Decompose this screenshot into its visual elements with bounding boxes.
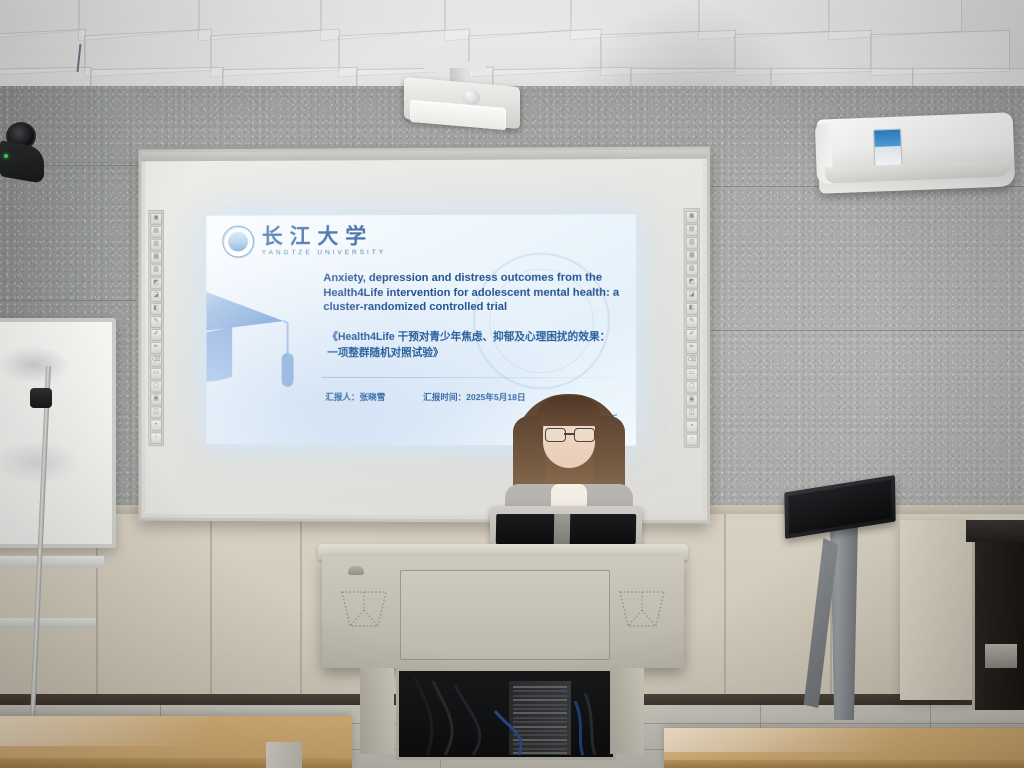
graduation-cap-graphic [206,261,319,391]
air-conditioner-icon [817,112,1016,193]
board-toolbar-left[interactable]: ▣▤▥▦▧◩◪◧✎✐✏⌫▭▢▣◫▪▫ [148,210,164,446]
board-toolbar-right[interactable]: ▣▤▥▦▧◩◪◧✎✐✏⌫▭▢▣◫▪▫ [684,208,700,448]
presenter-fringe [537,396,601,426]
whiteboard-tray [0,556,104,568]
board-tool-button[interactable]: ✐ [150,329,162,341]
presenter-glasses-icon [545,428,593,440]
board-tool-button[interactable]: ▪ [150,419,162,431]
board-tool-button[interactable]: ▧ [686,263,698,275]
slide-title-chinese: 《Health4Life 干预对青少年焦虑、抑郁及心理困扰的效果：一项整群随机对… [327,329,620,362]
speaker-grille-svg [338,584,390,630]
rack-top-device [966,520,1024,542]
university-emblem-icon [222,226,254,258]
university-name-cn: 长江大学 [262,226,386,247]
whiteboard-smudge [0,346,70,384]
board-tool-button[interactable]: ◧ [150,303,162,315]
stand-support-wing [786,538,838,708]
multimedia-lectern[interactable] [318,512,688,742]
board-tool-button[interactable]: ▣ [150,394,162,406]
board-tool-button[interactable]: ✐ [686,329,698,341]
board-tool-button[interactable]: ▢ [150,381,162,393]
lectern-equipment-cabinet[interactable] [396,668,616,760]
board-tool-button[interactable]: ✎ [150,316,162,328]
speaker-grille-svg [616,584,668,630]
board-tool-button[interactable]: ▫ [686,434,698,446]
board-tool-button[interactable]: ▥ [686,237,698,249]
glasses-bridge [564,433,574,435]
board-tool-button[interactable]: ▪ [686,421,698,433]
wall-seam [0,300,136,301]
lectern-latch[interactable] [348,566,364,575]
board-tool-button[interactable]: ◩ [150,277,162,289]
control-panel-stand[interactable] [778,478,896,728]
camera-status-led [4,154,8,158]
board-tool-button[interactable]: ▦ [150,252,162,264]
slide-divider [321,377,622,378]
board-tool-button[interactable]: ✏ [686,342,698,354]
wainscot-joint [724,514,726,694]
board-tool-button[interactable]: ▥ [150,239,162,251]
glasses-lens-right [574,428,595,442]
board-tool-button[interactable]: ▣ [686,394,698,406]
board-tool-button[interactable]: ◪ [686,290,698,302]
lectern-screen-divider [554,514,571,544]
board-tool-button[interactable]: ◫ [150,406,162,418]
cabinet-cables [399,671,613,757]
wainscot-joint [210,514,212,694]
glasses-lens-left [545,428,566,442]
whiteboard-lower-shelf [0,618,96,628]
slide-presenter: 汇报人：张晓雪 [325,391,385,403]
touch-panel-screen[interactable] [788,480,891,535]
control-touch-panel[interactable] [784,475,895,539]
rack-nameplate [985,644,1017,668]
desk-leg-left [266,742,302,768]
wall-seam [704,330,1024,331]
board-tool-button[interactable]: ▧ [150,265,162,277]
graduation-cap-icon [206,261,319,391]
whiteboard-pole-clamp [30,388,52,408]
board-tool-button[interactable]: ▦ [686,250,698,262]
slide-title-english: Anxiety, depression and distress outcome… [323,271,620,315]
lectern-front-panel [400,570,610,660]
slide-logo: 长江大学 YANGTZE UNIVERSITY [222,225,386,257]
ceiling-projector-icon [404,82,520,140]
board-tool-button[interactable]: ▣ [686,211,698,223]
board-tool-button[interactable]: ▤ [686,224,698,236]
board-tool-button[interactable]: ▢ [686,381,698,393]
emblem-inner [228,231,248,251]
university-name-en: YANGTZE UNIVERSITY [262,249,386,256]
lectern-leg-left [360,668,394,754]
board-tool-button[interactable]: ◩ [686,277,698,289]
lectern-front-body [322,556,684,668]
speaker-grille-right-icon [616,584,668,630]
board-tool-button[interactable]: ◧ [686,303,698,315]
board-tool-button[interactable]: ▭ [150,368,162,380]
board-tool-button[interactable]: ◫ [686,408,698,420]
wall-mounted-camera-icon [0,118,46,188]
side-cabinet[interactable] [900,520,972,700]
board-tool-button[interactable]: ▤ [150,226,162,238]
mobile-whiteboard[interactable] [0,318,116,548]
lectern-leg-right [610,668,644,754]
desk-edge-right [664,760,1024,768]
board-tool-button[interactable]: ✎ [686,316,698,328]
board-tool-button[interactable]: ▫ [150,432,162,444]
speaker-grille-left-icon [338,584,390,630]
av-equipment-rack[interactable] [972,540,1024,710]
wainscot-joint [300,514,302,694]
board-tool-button[interactable]: ◪ [150,290,162,302]
board-tool-button[interactable]: ⌫ [150,355,162,367]
board-tool-button[interactable]: ▭ [686,368,698,380]
camera-body [0,140,44,184]
desk-glare-right [664,728,1024,752]
lecture-room-photo: ▣▤▥▦▧◩◪◧✎✐✏⌫▭▢▣◫▪▫ ▣▤▥▦▧◩◪◧✎✐✏⌫▭▢▣◫▪▫ [0,0,1024,768]
board-tool-button[interactable]: ⌫ [686,355,698,367]
board-tool-button[interactable]: ▣ [150,213,162,225]
projector-lens-icon [462,88,480,106]
board-tool-button[interactable]: ✏ [150,342,162,354]
